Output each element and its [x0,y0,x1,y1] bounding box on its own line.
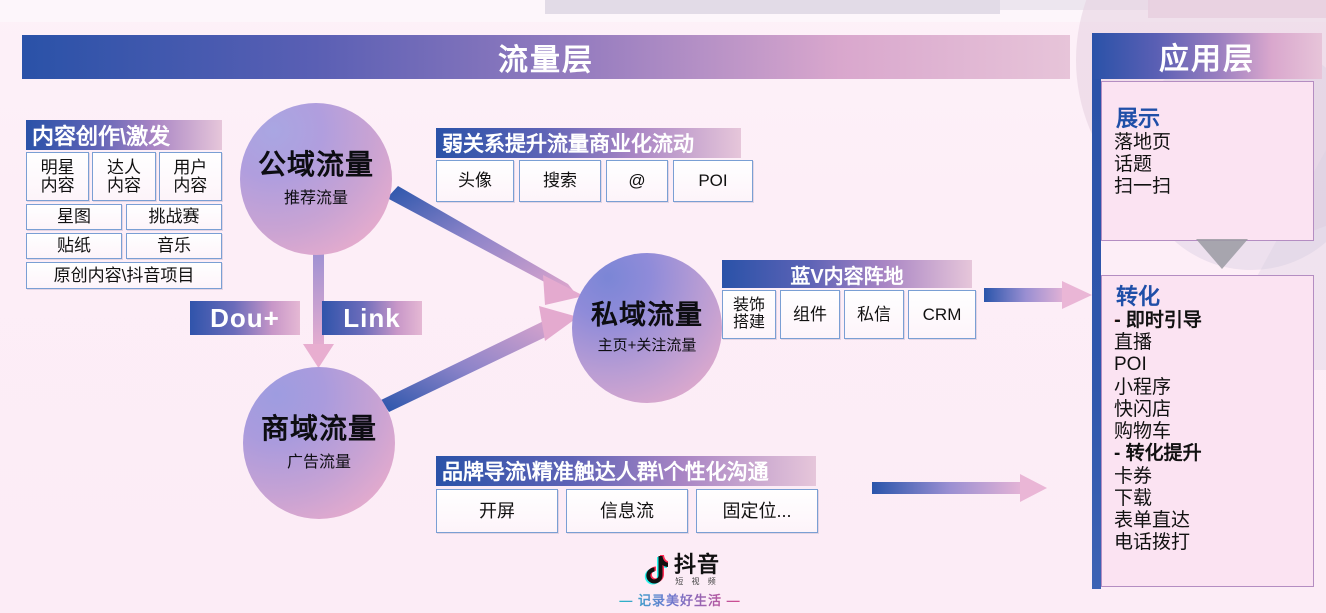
brand-traffic-group: 品牌导流\精准触达人群\个性化沟通 开屏 信息流 固定位... [436,456,818,533]
cell-label: 明星 内容 [41,159,75,195]
douyin-wordmark: 抖音 短 视 频 [674,554,720,586]
list-item: - 转化提升 [1114,443,1313,465]
content-creation-row-4: 原创内容\抖音项目 [26,262,222,289]
bubble-title: 公域流量 [258,151,374,179]
cell-label: 装饰 搭建 [733,298,765,332]
cell-crm[interactable]: CRM [908,290,976,339]
bubble-title: 商域流量 [261,415,377,443]
list-item-label: - 即时引导 [1114,310,1202,331]
bubble-business-traffic[interactable]: 商域流量 广告流量 [243,367,395,519]
application-left-rail [1092,79,1101,589]
content-creation-group: 内容创作\激发 明星 内容 达人 内容 用户 内容 星图 挑战赛 贴纸 音乐 原… [26,120,222,289]
cell-splash-ad[interactable]: 开屏 [436,489,558,533]
bubble-subtitle: 推荐流量 [284,184,348,208]
cell-direct-message[interactable]: 私信 [844,290,904,339]
bluev-row: 装饰 搭建 组件 私信 CRM [722,290,976,339]
bubble-public-traffic[interactable]: 公域流量 推荐流量 [240,103,392,255]
weak-relation-row: 头像 搜索 @ POI [436,160,753,202]
cell-decoration-build[interactable]: 装饰 搭建 [722,290,776,339]
cell-label: 达人 内容 [107,159,141,195]
cell-poi[interactable]: POI [673,160,753,202]
cell-xingtu[interactable]: 星图 [26,204,122,230]
bluev-content-group: 蓝V内容阵地 装饰 搭建 组件 私信 CRM [722,260,976,339]
list-item[interactable]: 话题 [1114,154,1313,176]
list-item[interactable]: 购物车 [1114,421,1313,443]
list-item[interactable]: 快闪店 [1114,399,1313,421]
brand-traffic-title: 品牌导流\精准触达人群\个性化沟通 [436,456,816,486]
app-card-display-list: 落地页 话题 扫一扫 [1102,130,1313,199]
app-card-display-heading: 展示 [1102,82,1313,130]
cell-celebrity-content[interactable]: 明星 内容 [26,152,89,201]
diagram-canvas: 流量层 应用层 [0,0,1326,613]
pill-link[interactable]: Link [322,301,422,335]
cell-sticker[interactable]: 贴纸 [26,233,122,259]
bluev-title: 蓝V内容阵地 [722,260,972,288]
list-item[interactable]: 卡券 [1114,466,1313,488]
list-item[interactable]: 电话拨打 [1114,532,1313,554]
cell-original-content-project[interactable]: 原创内容\抖音项目 [26,262,222,289]
cell-feed-ad[interactable]: 信息流 [566,489,688,533]
list-item[interactable]: 扫一扫 [1114,176,1313,198]
cell-challenge[interactable]: 挑战赛 [126,204,222,230]
douyin-logo-top: 抖音 短 视 频 [640,554,720,586]
list-item[interactable]: 表单直达 [1114,510,1313,532]
content-creation-title: 内容创作\激发 [26,120,222,150]
chevron-down-icon [1196,239,1248,269]
cell-component[interactable]: 组件 [780,290,840,339]
bubble-title: 私域流量 [591,302,703,329]
content-creation-row-1: 明星 内容 达人 内容 用户 内容 [26,152,222,201]
bubble-private-traffic[interactable]: 私域流量 主页+关注流量 [572,253,722,403]
content-creation-row-3: 贴纸 音乐 [26,233,222,259]
app-card-conversion-list: -- 即时引导 直播 POI 小程序 快闪店 购物车 - 转化提升 卡券 下载 … [1102,308,1313,554]
app-card-conversion: 转化 -- 即时引导 直播 POI 小程序 快闪店 购物车 - 转化提升 卡券 … [1101,275,1314,587]
douyin-subname: 短 视 频 [675,578,718,586]
bubble-subtitle: 广告流量 [287,448,351,472]
list-item: -- 即时引导 [1114,310,1313,332]
cell-influencer-content[interactable]: 达人 内容 [92,152,155,201]
weak-relation-group: 弱关系提升流量商业化流动 头像 搜索 @ POI [436,128,753,202]
cell-search[interactable]: 搜索 [519,160,601,202]
weak-relation-title: 弱关系提升流量商业化流动 [436,128,741,158]
bubble-subtitle: 主页+关注流量 [598,334,697,355]
list-item[interactable]: 下载 [1114,488,1313,510]
list-item[interactable]: 直播 [1114,332,1313,354]
douyin-logo: 抖音 短 视 频 — 记录美好生活 — [600,554,760,610]
douyin-tagline: — 记录美好生活 — [619,590,740,609]
content-creation-row-2: 星图 挑战赛 [26,204,222,230]
brand-traffic-row: 开屏 信息流 固定位... [436,489,818,533]
cell-user-content[interactable]: 用户 内容 [159,152,222,201]
cell-fixed-slot[interactable]: 固定位... [696,489,818,533]
list-item[interactable]: 小程序 [1114,377,1313,399]
arrow-public-to-private [387,186,584,305]
douyin-name: 抖音 [674,554,720,576]
app-card-display: 展示 落地页 话题 扫一扫 [1101,81,1314,241]
pill-douplus[interactable]: Dou+ [190,301,300,335]
arrow-bluev-to-app [984,281,1092,309]
cell-avatar[interactable]: 头像 [436,160,514,202]
cell-mention[interactable]: @ [606,160,668,202]
cell-label: 用户 内容 [173,159,207,195]
list-item[interactable]: POI [1114,354,1313,376]
application-column: 展示 落地页 话题 扫一扫 转化 -- 即时引导 直播 POI 小程序 快闪店 … [1092,79,1322,589]
music-note-icon [640,554,668,586]
cell-music[interactable]: 音乐 [126,233,222,259]
app-card-conversion-heading: 转化 [1102,276,1313,308]
arrow-brand-to-app [872,474,1047,502]
list-item[interactable]: 落地页 [1114,132,1313,154]
